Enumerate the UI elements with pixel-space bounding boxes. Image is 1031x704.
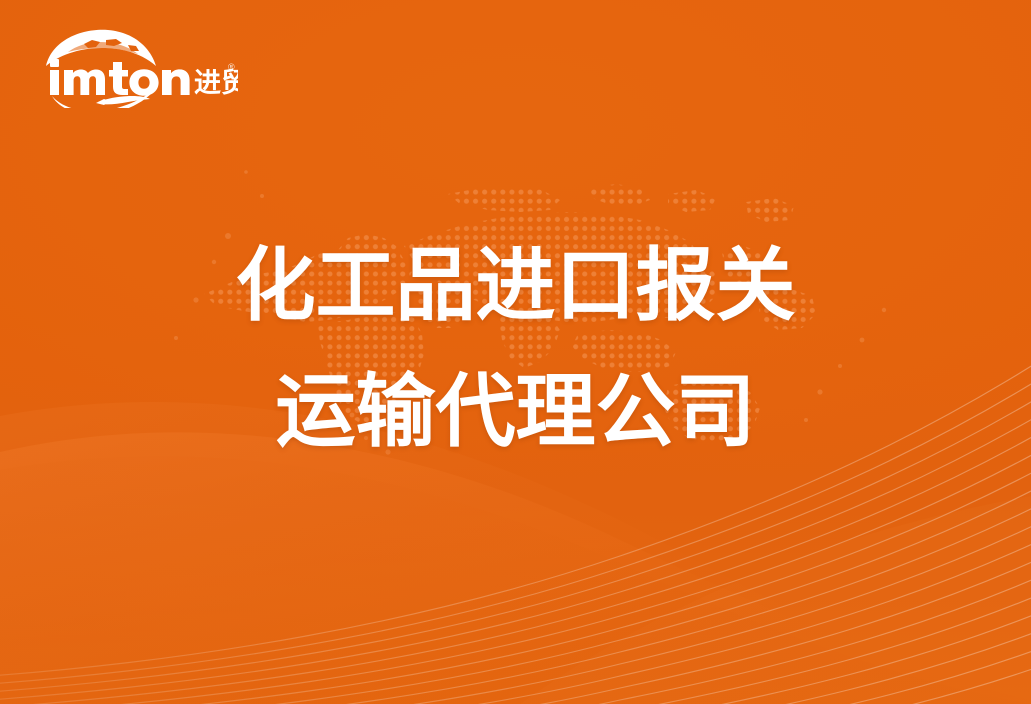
logo-wordmark [50,59,190,96]
logo-chinese-name: 进贸通 [194,68,238,99]
trademark-icon: ® [228,62,235,72]
promo-banner: 进贸通 ® 化工品进口报关 运输代理公司 [0,0,1031,704]
imton-logo[interactable]: 进贸通 ® [38,26,238,108]
headline-line-1: 化工品进口报关 [0,246,1031,326]
headline-line-2: 运输代理公司 [0,372,1031,452]
page-title: 化工品进口报关 运输代理公司 [0,246,1031,452]
globe-arc-icon [46,30,156,66]
